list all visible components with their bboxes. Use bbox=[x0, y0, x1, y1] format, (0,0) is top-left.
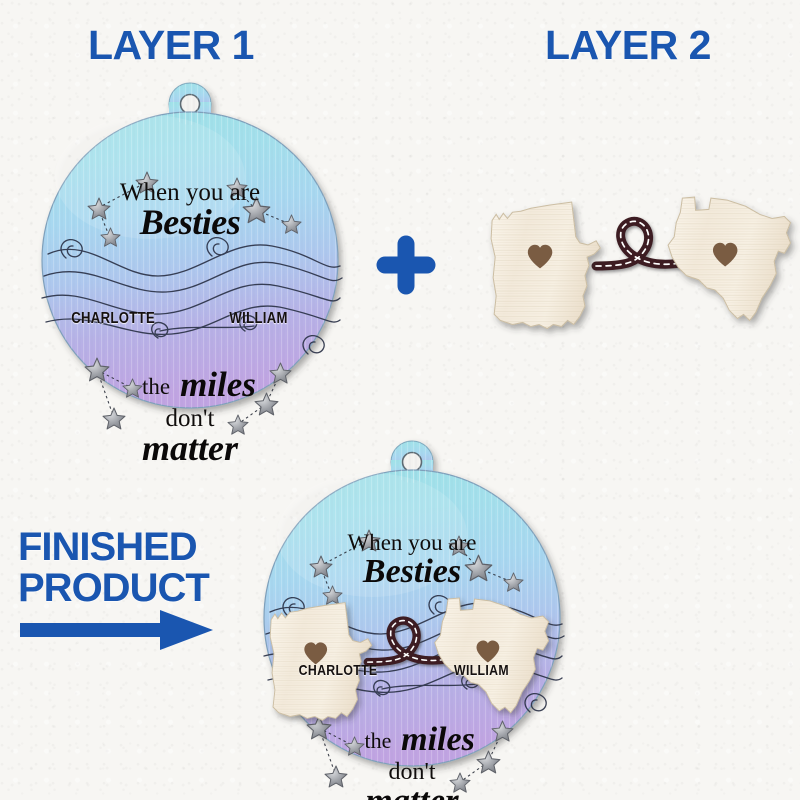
ornament-line2: Besties bbox=[139, 202, 241, 242]
finished-ornament-line6: matter bbox=[365, 781, 459, 800]
layer2-heading: LAYER 2 bbox=[545, 22, 711, 69]
finished-ornament-line1: When you are bbox=[348, 530, 477, 555]
disc-body bbox=[42, 83, 338, 408]
right-arrow-icon bbox=[20, 605, 215, 655]
finished-ornament-line3: the bbox=[365, 728, 392, 753]
ornament-line3: the bbox=[142, 374, 170, 399]
finished-ornament-line4: miles bbox=[401, 721, 475, 758]
layer2-state-cutouts bbox=[478, 182, 800, 332]
finished-product-ornament: When you are Besties the miles don't mat… bbox=[262, 440, 562, 775]
ornament-line6: matter bbox=[142, 428, 239, 468]
layer1-ornament-disc: When you are Besties the miles don't mat… bbox=[40, 82, 340, 412]
name-label-left: CHARLOTTE bbox=[71, 310, 155, 328]
finished-product-heading: FINISHED PRODUCT bbox=[18, 527, 233, 609]
finished-name-label-right: WILLIAM bbox=[454, 662, 509, 679]
infographic-stage: LAYER 1 LAYER 2 FINISHED PRODUCT bbox=[0, 0, 800, 800]
plus-sign-icon bbox=[375, 234, 437, 296]
finished-ornament-line2: Besties bbox=[362, 553, 461, 590]
layer1-heading: LAYER 1 bbox=[88, 22, 254, 69]
name-label-right: WILLIAM bbox=[229, 310, 287, 328]
ornament-line4: miles bbox=[180, 365, 256, 404]
finished-name-label-left: CHARLOTTE bbox=[299, 662, 378, 679]
